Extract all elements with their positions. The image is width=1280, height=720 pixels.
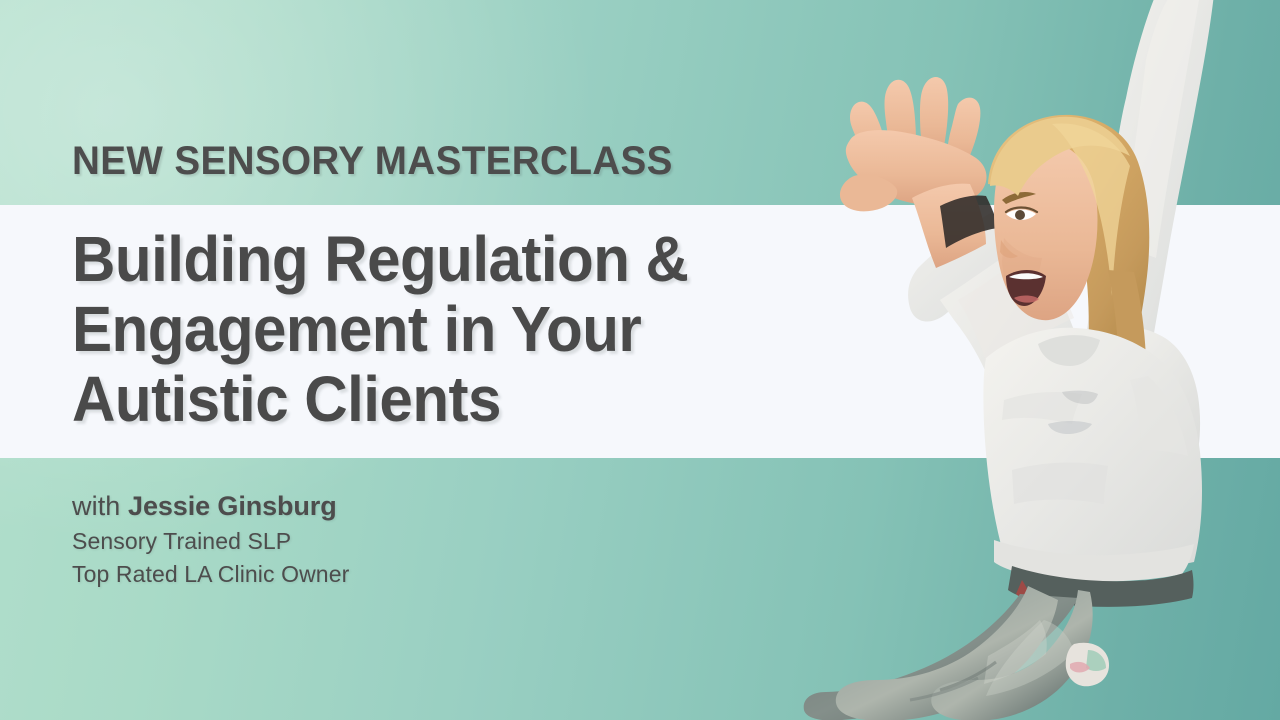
presenter-name: Jessie Ginsburg <box>128 491 337 521</box>
masterclass-promo-banner: NEW SENSORY MASTERCLASS Building Regulat… <box>0 0 1280 720</box>
waistband <box>1008 566 1194 607</box>
legs-pants <box>804 586 1109 720</box>
presenter-prefix: with <box>72 491 128 521</box>
headline-line-3: Autistic Clients <box>72 364 852 434</box>
presenter-name-line: with Jessie Ginsburg <box>72 487 349 525</box>
presenter-block: with Jessie Ginsburg Sensory Trained SLP… <box>72 487 349 591</box>
presenter-credential-2: Top Rated LA Clinic Owner <box>72 558 349 591</box>
headline-line-1: Building Regulation & <box>72 224 852 294</box>
presenter-credential-1: Sensory Trained SLP <box>72 525 349 558</box>
headline: Building Regulation & Engagement in Your… <box>72 224 852 434</box>
kicker-text: NEW SENSORY MASTERCLASS <box>72 141 673 181</box>
headline-line-2: Engagement in Your <box>72 294 852 364</box>
